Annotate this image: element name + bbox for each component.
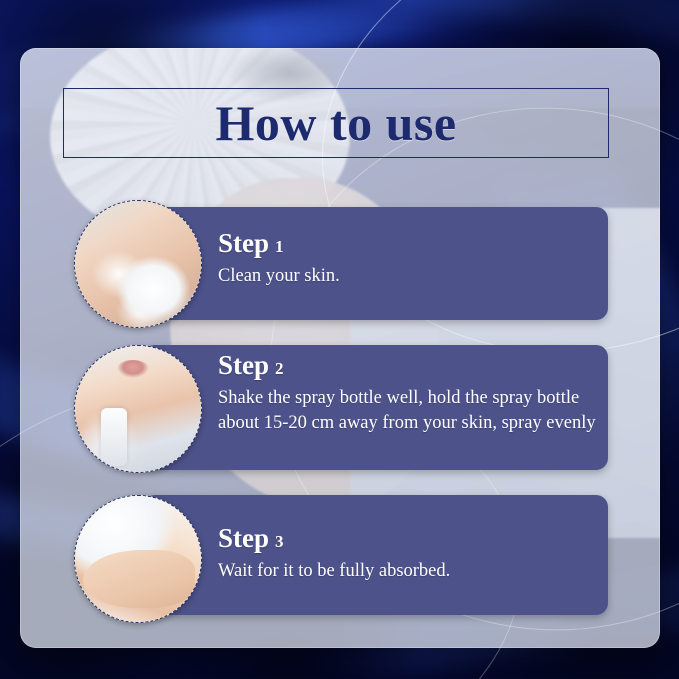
woman-spraying-neck-photo	[75, 346, 201, 472]
step-heading-1: Step1	[218, 230, 598, 257]
spray-bottle-detail	[101, 408, 127, 466]
step-body-3: Wait for it to be fully absorbed.	[218, 559, 598, 584]
step-number-3: 3	[275, 532, 284, 551]
step-heading-2: Step2	[218, 352, 603, 379]
step-number-2: 2	[275, 359, 284, 378]
arm-detail	[83, 550, 195, 608]
step-body-1: Clean your skin.	[218, 264, 598, 289]
step-label-3: Step	[218, 523, 269, 553]
lips-detail	[117, 360, 149, 378]
step-text-1: Step1 Clean your skin.	[218, 230, 598, 289]
step-image-3	[74, 495, 202, 623]
foam-on-shoulder-photo	[75, 201, 201, 327]
infographic-root: How to use Step1 Clean your skin. Step2 …	[0, 0, 679, 679]
step-label-2: Step	[218, 350, 269, 380]
step-image-2	[74, 345, 202, 473]
step-image-1	[74, 200, 202, 328]
step-body-2: Shake the spray bottle well, hold the sp…	[218, 386, 603, 436]
step-number-1: 1	[275, 237, 284, 256]
step-label-1: Step	[218, 228, 269, 258]
page-title: How to use	[63, 88, 609, 158]
shoulder-skin-photo	[75, 496, 201, 622]
step-text-3: Step3 Wait for it to be fully absorbed.	[218, 525, 598, 584]
step-text-2: Step2 Shake the spray bottle well, hold …	[218, 352, 603, 436]
step-heading-3: Step3	[218, 525, 598, 552]
